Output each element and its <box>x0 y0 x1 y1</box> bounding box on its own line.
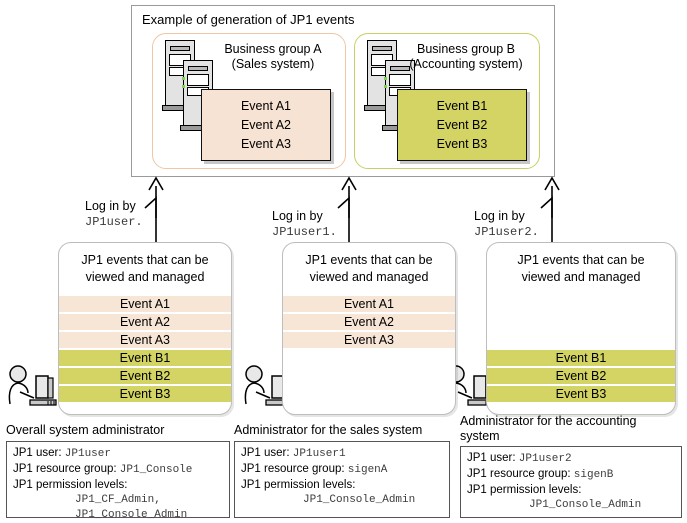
role-2-resource-line: JP1 resource group: sigenA <box>241 462 444 478</box>
jp1-event-generation-box: Example of generation of JP1 events Busi… <box>131 5 555 177</box>
login-arrow-3 <box>540 176 574 248</box>
events-panel-2-heading: JP1 events that can be viewed and manage… <box>283 252 455 286</box>
business-group-b-title: Business group B (Accounting system) <box>395 42 537 72</box>
role-info-box-3: JP1 user: JP1user2 JP1 resource group: s… <box>460 446 682 518</box>
events-panel-2: JP1 events that can be viewed and manage… <box>282 242 456 415</box>
events-panel-3-heading: JP1 events that can be viewed and manage… <box>487 252 675 286</box>
login-label-1-text: Log in by <box>85 198 143 214</box>
role-2-permission-label: JP1 permission levels: <box>241 478 444 493</box>
business-group-a-title: Business group A (Sales system) <box>205 42 341 72</box>
role-3-user-line: JP1 user: JP1user2 <box>467 451 676 467</box>
group-b-event-list: Event B1 Event B2 Event B3 <box>397 89 527 161</box>
diagram-title: Example of generation of JP1 events <box>142 12 354 27</box>
login-label-1-user: JP1user. <box>85 214 143 230</box>
login-label-2: Log in by JP1user1. <box>272 208 337 240</box>
login-arrow-1 <box>144 176 178 248</box>
role-1-permission-value: JP1_CF_Admin, <box>13 493 224 508</box>
event-row: Event A3 <box>283 332 455 348</box>
login-label-1: Log in by JP1user. <box>85 198 143 230</box>
event-row: Event B3 <box>487 386 675 402</box>
login-label-3-user: JP1user2. <box>474 224 539 240</box>
group-a-title-line1: Business group A <box>205 42 341 57</box>
events-panel-1-heading-line2: viewed and managed <box>59 269 231 286</box>
user-at-computer-icon-1 <box>4 362 60 410</box>
group-a-title-line2: (Sales system) <box>205 57 341 72</box>
business-group-a-card: Business group A (Sales system) Event A1… <box>152 33 346 169</box>
login-arrow-2 <box>337 176 371 248</box>
event-row: Event A2 <box>59 314 231 330</box>
business-group-b-card: Business group B (Accounting system) Eve… <box>354 33 540 169</box>
role-1-user-line: JP1 user: JP1user <box>13 446 224 462</box>
event-row: Event B2 <box>487 368 675 384</box>
role-2-permission-value: JP1_Console_Admin <box>241 493 444 508</box>
events-panel-1: JP1 events that can be viewed and manage… <box>58 242 232 415</box>
group-a-event-2: Event A2 <box>202 116 330 135</box>
events-panel-1-heading-line1: JP1 events that can be <box>59 252 231 269</box>
role-1-resource-line: JP1 resource group: JP1_Console <box>13 462 224 478</box>
role-2-user-line: JP1 user: JP1user1 <box>241 446 444 462</box>
group-b-event-1: Event B1 <box>398 97 526 116</box>
event-row: Event B1 <box>59 350 231 366</box>
role-3-permission-label: JP1 permission levels: <box>467 483 676 498</box>
role-3-permission-value: JP1_Console_Admin <box>467 498 676 513</box>
events-panel-1-heading: JP1 events that can be viewed and manage… <box>59 252 231 286</box>
events-panel-3-heading-line1: JP1 events that can be <box>487 252 675 269</box>
role-caption-1: Overall system administrator <box>6 423 164 438</box>
event-row: Event A1 <box>283 296 455 312</box>
group-a-event-3: Event A3 <box>202 135 330 154</box>
login-label-3: Log in by JP1user2. <box>474 208 539 240</box>
role-caption-3: Administrator for the accounting system <box>460 414 678 444</box>
group-a-event-1: Event A1 <box>202 97 330 116</box>
role-3-resource-line: JP1 resource group: sigenB <box>467 467 676 483</box>
events-panel-2-heading-line2: viewed and managed <box>283 269 455 286</box>
login-label-3-text: Log in by <box>474 208 539 224</box>
group-a-event-list: Event A1 Event A2 Event A3 <box>201 89 331 161</box>
event-row: Event A3 <box>59 332 231 348</box>
login-label-2-text: Log in by <box>272 208 337 224</box>
events-panel-3-heading-line2: viewed and managed <box>487 269 675 286</box>
role-info-box-2: JP1 user: JP1user1 JP1 resource group: s… <box>234 441 450 518</box>
login-label-2-user: JP1user1. <box>272 224 337 240</box>
role-1-permission-value: JP1_Console_Admin <box>13 508 224 523</box>
event-row: Event B1 <box>487 350 675 366</box>
event-row: Event A1 <box>59 296 231 312</box>
event-row: Event A2 <box>283 314 455 330</box>
group-b-title-line1: Business group B <box>395 42 537 57</box>
group-b-event-2: Event B2 <box>398 116 526 135</box>
group-b-event-3: Event B3 <box>398 135 526 154</box>
event-row: Event B2 <box>59 368 231 384</box>
event-row: Event B3 <box>59 386 231 402</box>
role-1-permission-label: JP1 permission levels: <box>13 478 224 493</box>
events-panel-2-heading-line1: JP1 events that can be <box>283 252 455 269</box>
group-b-title-line2: (Accounting system) <box>395 57 537 72</box>
events-panel-3: JP1 events that can be viewed and manage… <box>486 242 676 415</box>
role-caption-2: Administrator for the sales system <box>234 423 422 438</box>
role-info-box-1: JP1 user: JP1user JP1 resource group: JP… <box>6 441 230 518</box>
